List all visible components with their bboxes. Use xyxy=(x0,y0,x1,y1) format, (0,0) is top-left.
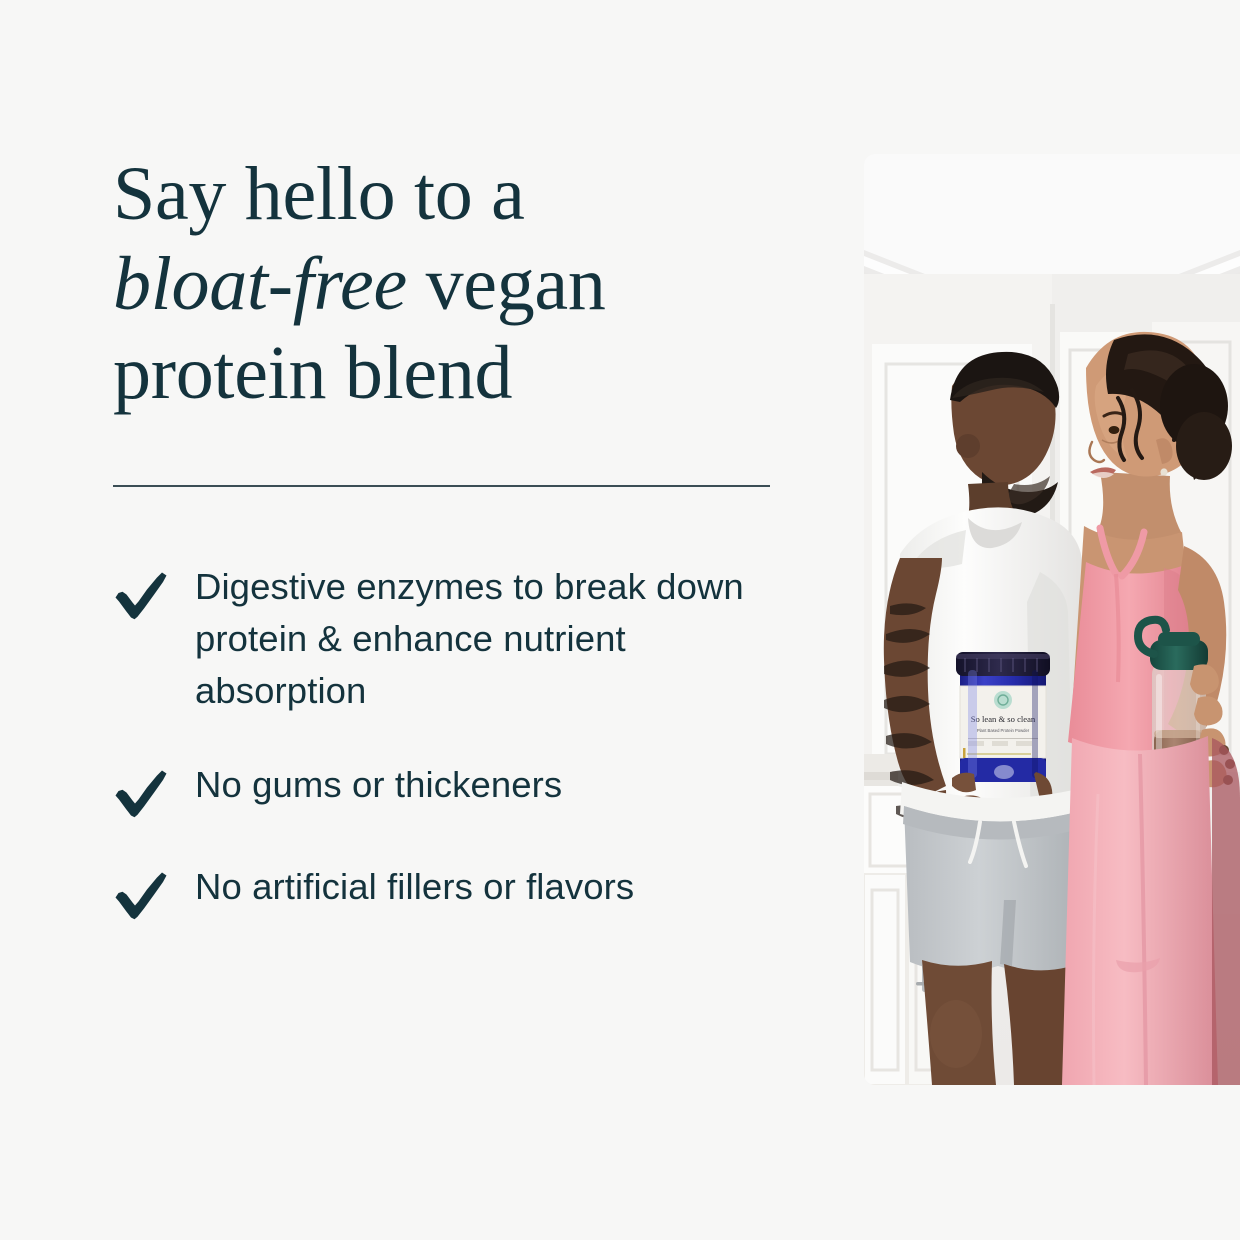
lifestyle-photo: So lean & so clean Plant Based Protein P… xyxy=(864,154,1240,1085)
divider xyxy=(113,485,770,487)
tub-label-text: So lean & so clean xyxy=(971,714,1036,724)
list-item: Digestive enzymes to break down protein … xyxy=(113,561,793,716)
copy-column: Say hello to a bloat-free vegan protein … xyxy=(113,150,793,921)
check-icon xyxy=(113,871,169,921)
headline-emphasis: bloat-free xyxy=(113,242,407,326)
list-item-label: Digestive enzymes to break down protein … xyxy=(195,561,785,716)
page-title: Say hello to a bloat-free vegan protein … xyxy=(113,150,773,419)
promo-panel: Say hello to a bloat-free vegan protein … xyxy=(0,0,1240,1240)
list-item-label: No artificial fillers or flavors xyxy=(195,861,634,913)
headline-line-2-tail: vegan xyxy=(407,242,606,326)
headline-line-3: protein blend xyxy=(113,331,512,415)
benefits-list: Digestive enzymes to break down protein … xyxy=(113,561,793,920)
headline-line-1: Say hello to a xyxy=(113,152,525,236)
list-item: No artificial fillers or flavors xyxy=(113,861,793,921)
tub-sublabel-text: Plant Based Protein Powder xyxy=(977,728,1030,733)
check-icon xyxy=(113,571,169,621)
check-icon xyxy=(113,769,169,819)
list-item: No gums or thickeners xyxy=(113,759,793,819)
list-item-label: No gums or thickeners xyxy=(195,759,562,811)
